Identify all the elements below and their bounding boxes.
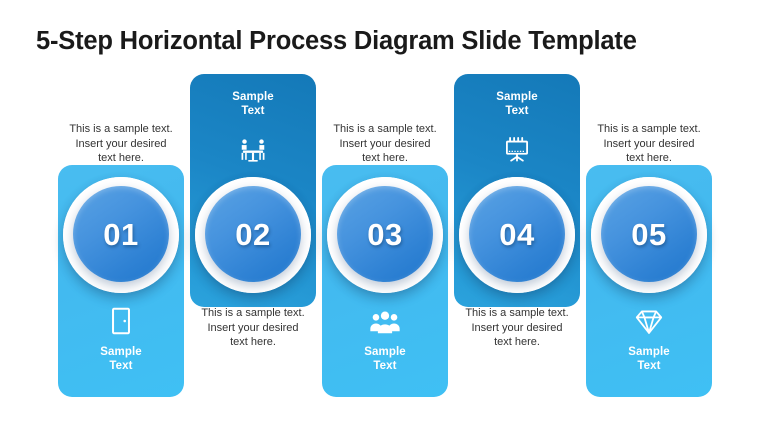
step-circle-01[interactable]: 01 — [73, 186, 169, 282]
process-step-05[interactable]: This is a sample text. Insert your desir… — [583, 0, 715, 432]
step-card-title-04: Sample Text — [454, 90, 580, 118]
step-description-03: This is a sample text. Insert your desir… — [311, 122, 459, 166]
step-number-05: 05 — [631, 219, 666, 250]
step-card-label-01: Sample Text — [58, 304, 184, 373]
process-step-03[interactable]: This is a sample text. Insert your desir… — [319, 0, 451, 432]
step-description-04: This is a sample text. Insert your desir… — [443, 306, 591, 350]
step-circle-ring-02: 02 — [195, 177, 311, 293]
step-card-title-02: Sample Text — [190, 90, 316, 118]
step-card-label-05: Sample Text — [586, 304, 712, 373]
people-group-icon — [368, 304, 402, 338]
process-steps-container: This is a sample text. Insert your desir… — [0, 0, 768, 432]
step-card-label-02: Sample Text — [190, 90, 316, 166]
step-number-02: 02 — [235, 219, 270, 250]
step-card-label-04: Sample Text — [454, 90, 580, 166]
step-circle-ring-04: 04 — [459, 177, 575, 293]
diamond-icon — [632, 304, 666, 338]
step-circle-ring-03: 03 — [327, 177, 443, 293]
step-description-01: This is a sample text. Insert your desir… — [47, 122, 195, 166]
whiteboard-easel-icon — [500, 132, 534, 166]
door-icon — [104, 304, 138, 338]
step-card-title-01: Sample Text — [58, 345, 184, 373]
step-circle-02[interactable]: 02 — [205, 186, 301, 282]
step-number-01: 01 — [103, 219, 138, 250]
step-number-04: 04 — [499, 219, 534, 250]
slide-canvas: 5-Step Horizontal Process Diagram Slide … — [0, 0, 768, 432]
step-description-05: This is a sample text. Insert your desir… — [575, 122, 723, 166]
step-circle-03[interactable]: 03 — [337, 186, 433, 282]
process-step-02[interactable]: This is a sample text. Insert your desir… — [187, 0, 319, 432]
meeting-table-icon — [236, 132, 270, 166]
step-circle-04[interactable]: 04 — [469, 186, 565, 282]
step-card-title-03: Sample Text — [322, 345, 448, 373]
step-circle-05[interactable]: 05 — [601, 186, 697, 282]
step-circle-ring-05: 05 — [591, 177, 707, 293]
step-number-03: 03 — [367, 219, 402, 250]
process-step-04[interactable]: This is a sample text. Insert your desir… — [451, 0, 583, 432]
step-card-title-05: Sample Text — [586, 345, 712, 373]
step-circle-ring-01: 01 — [63, 177, 179, 293]
step-description-02: This is a sample text. Insert your desir… — [179, 306, 327, 350]
process-step-01[interactable]: This is a sample text. Insert your desir… — [55, 0, 187, 432]
step-card-label-03: Sample Text — [322, 304, 448, 373]
